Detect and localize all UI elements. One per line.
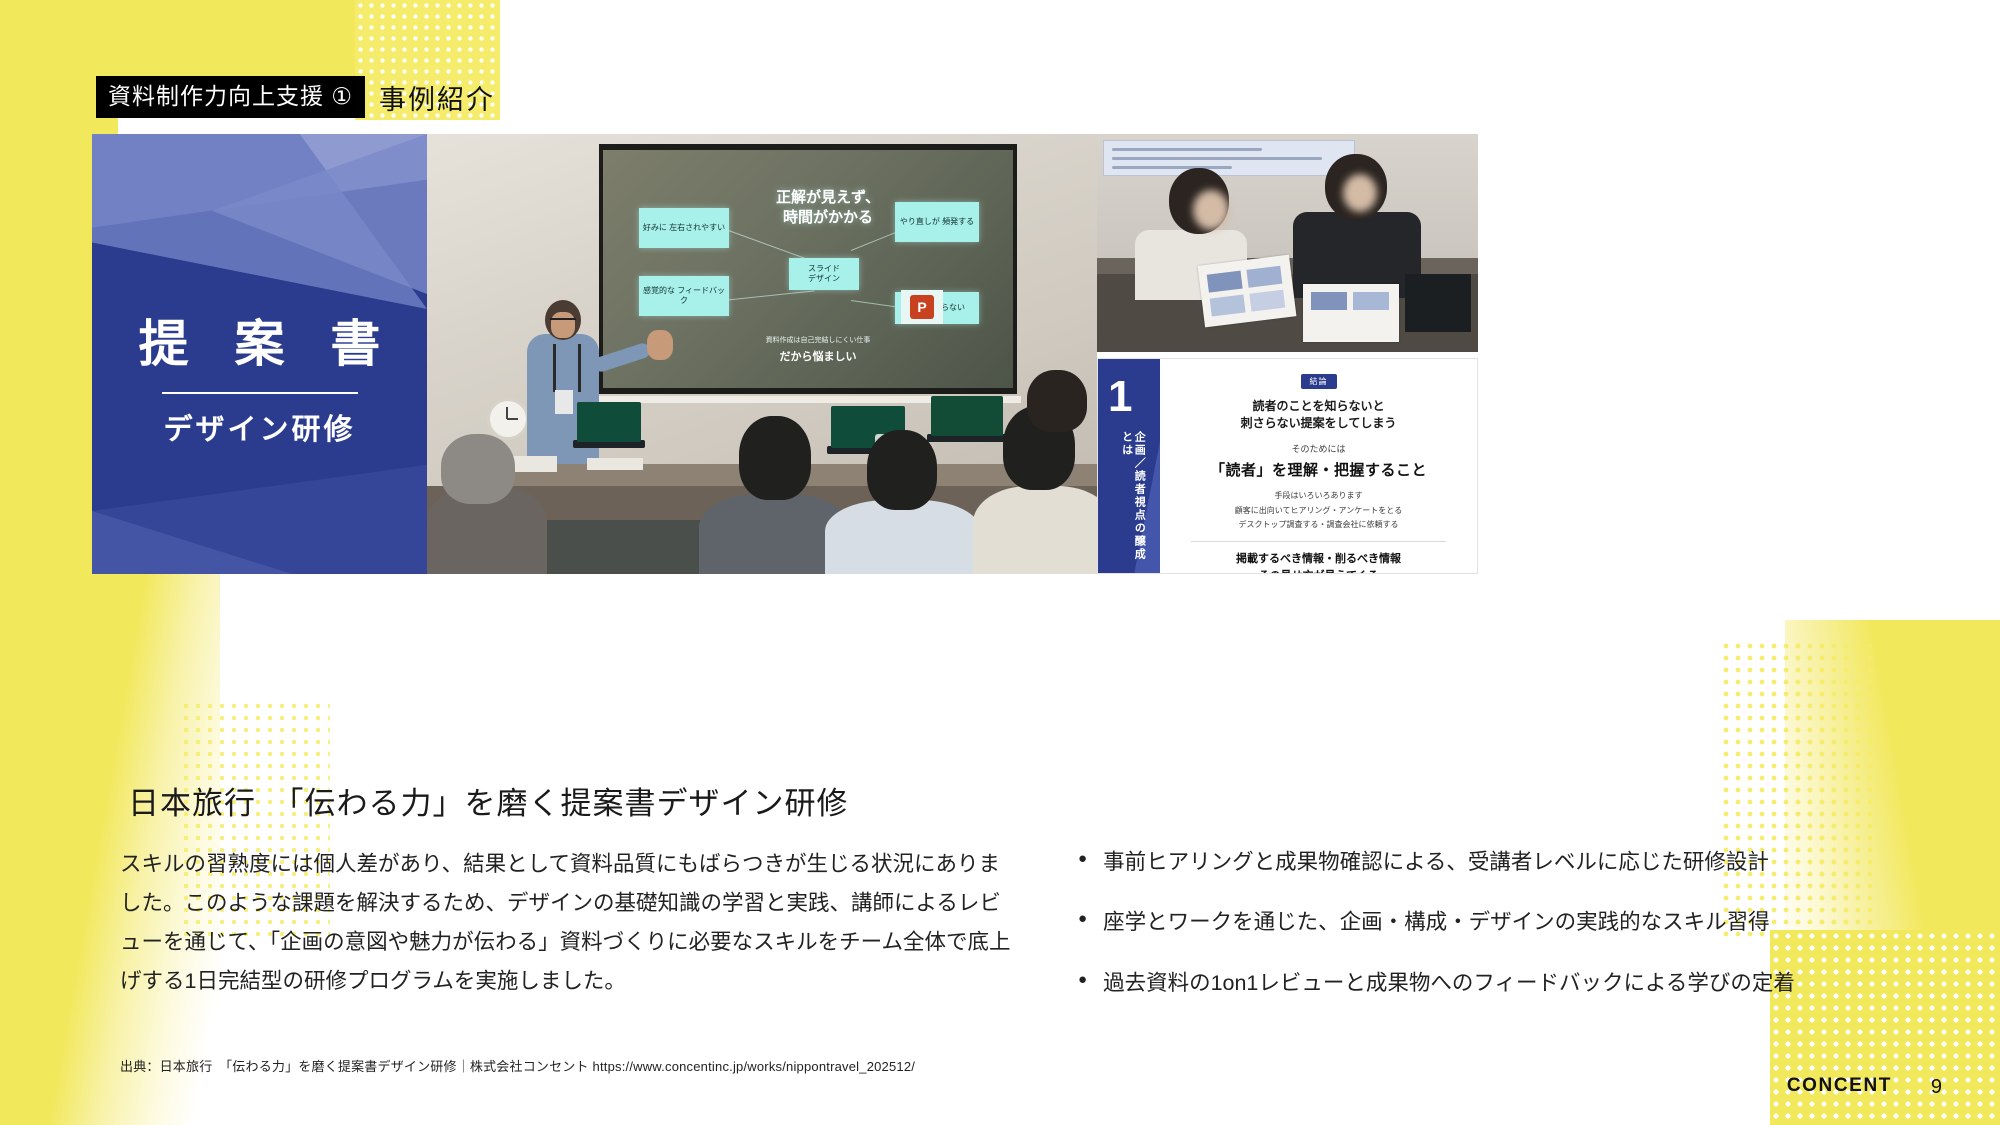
handout-papers [587, 458, 643, 470]
case-study-paragraph: スキルの習熟度には個人差があり、結果として資料品質にもばらつきが生じる状況にあり… [120, 845, 1020, 1002]
laptop-screen [931, 396, 1003, 436]
printed-handout [1303, 284, 1399, 342]
bullet-marker-icon: ● [1078, 966, 1087, 1000]
deck-closing-2: その見せ方が見えてくる [1170, 568, 1467, 574]
slide-page: 資料制作力向上支援 ① 事例紹介 提 案 書 デザイン研修 [0, 0, 2000, 1125]
source-citation: 出典：日本旅行 「伝わる力」を磨く提案書デザイン研修｜株式会社コンセント htt… [120, 1056, 915, 1075]
handout-thumb [1353, 292, 1389, 310]
powerpoint-icon: P [901, 290, 943, 324]
attendee-head [739, 416, 811, 500]
screen-text-line [1112, 148, 1262, 151]
slide-footnote-bold: だから悩ましい [713, 348, 923, 364]
slide-footnote-small: 資料作成は自己完結しにくい仕事 [713, 336, 923, 345]
deck-line-2-prefix: そのためには [1170, 442, 1467, 458]
screen-text-line [1112, 166, 1232, 169]
photo-workshop-session [1097, 134, 1478, 352]
media-gallery: 提 案 書 デザイン研修 好みに 左右されやすい 感覚的な フィードバック やり… [92, 134, 1478, 574]
deck-method-1: 顧客に出向いてヒアリング・アンケートをとる [1170, 504, 1467, 518]
cover-subtitle: デザイン研修 [92, 406, 427, 448]
slide-box-rework: やり直しが 頻発する [895, 202, 979, 242]
workshop-wall-screen [1103, 140, 1355, 176]
bullet-text: 事前ヒアリングと成果物確認による、受講者レベルに応じた研修設計 [1103, 845, 1769, 879]
slide-box-sensory-feedback: 感覚的な フィードバック [639, 276, 729, 316]
deck-method-2: デスクトップ調査する・調査会社に依頼する [1170, 518, 1467, 532]
presenter-face [551, 312, 575, 338]
deck-line-1: 読者のことを知らないと 刺さらない提案をしてしまう [1170, 398, 1467, 432]
deck-slide-thumbnail: 1 企画／読者視点の醸成とは 結論 読者のことを知らないと 刺さらない提案をして… [1097, 358, 1478, 574]
workshop-laptop [1405, 274, 1471, 332]
slide-hero-text: 正解が見えず、 時間がかかる [753, 188, 903, 229]
attendee-shoulders [973, 486, 1097, 574]
deck-closing-1: 掲載するべき情報・削るべき情報 [1170, 551, 1467, 568]
case-study-subhead: 日本旅行 「伝わる力」を磨く提案書デザイン研修 [128, 778, 849, 823]
company-logo: CONCENT [1787, 1075, 1892, 1097]
slide-connector-2 [723, 290, 815, 301]
deck-line-2: 「読者」を理解・把握すること [1170, 459, 1467, 480]
bullet-text: 座学とワークを通じた、企画・構成・デザインの実践的なスキル習得 [1103, 905, 1770, 939]
right-photo-column: 1 企画／読者視点の醸成とは 結論 読者のことを知らないと 刺さらない提案をして… [1097, 134, 1478, 574]
deck-divider [1191, 541, 1446, 542]
laptop-screen [577, 402, 641, 442]
presenter-lanyard [553, 344, 581, 392]
attendee-head [867, 430, 937, 510]
bullet-text: 過去資料の1on1レビューと成果物へのフィードバックによる学びの定着 [1103, 966, 1795, 1000]
presenter-glasses [550, 318, 576, 325]
screen-text-line [1112, 157, 1322, 160]
attendee-head [1027, 370, 1087, 432]
handout-thumb [1210, 294, 1246, 316]
photo-classroom-lecture: 好みに 左右されやすい 感覚的な フィードバック やり直しが 頻発する 一発で通… [427, 134, 1097, 574]
presenter-id-badge [555, 390, 573, 414]
attendee-shoulders [825, 500, 981, 574]
deck-section-label: 企画／読者視点の醸成とは [1120, 431, 1145, 573]
cover-text-block: 提 案 書 デザイン研修 [92, 304, 427, 448]
deck-methods-title: 手段はいろいろあります [1170, 489, 1467, 503]
list-item: ● 事前ヒアリングと成果物確認による、受講者レベルに応じた研修設計 [1078, 845, 1898, 879]
deck-conclusion-chip: 結論 [1301, 374, 1337, 389]
handout-thumb [1249, 290, 1285, 312]
bullet-marker-icon: ● [1078, 905, 1087, 939]
bullet-marker-icon: ● [1078, 845, 1087, 879]
deck-section-number: 1 [1108, 375, 1132, 419]
slide-connector-1 [723, 228, 810, 260]
list-item: ● 座学とワークを通じた、企画・構成・デザインの実践的なスキル習得 [1078, 905, 1898, 939]
attendee-head [441, 434, 515, 504]
deck-slide-body: 結論 読者のことを知らないと 刺さらない提案をしてしまう そのためには 「読者」… [1160, 359, 1477, 573]
slide-center-label: スライド デザイン [789, 258, 859, 290]
slide-box-preference: 好みに 左右されやすい [639, 208, 729, 248]
handout-thumb [1246, 266, 1282, 288]
slide-header: 資料制作力向上支援 ① 事例紹介 [96, 76, 495, 118]
handout-thumb [1207, 271, 1243, 293]
wall-clock-icon [487, 398, 529, 440]
participant-face-blurred [1343, 174, 1377, 212]
printed-handout [1198, 255, 1297, 328]
handout-thumb [1311, 292, 1347, 310]
cover-title: 提 案 書 [92, 304, 427, 376]
presenter-hand [647, 330, 673, 360]
header-section-badge: 資料制作力向上支援 ① [96, 76, 365, 118]
cover-divider [162, 392, 358, 394]
proposal-cover-card: 提 案 書 デザイン研修 [92, 134, 427, 574]
deck-section-marker: 1 企画／読者視点の醸成とは [1098, 359, 1160, 573]
case-study-bullet-list: ● 事前ヒアリングと成果物確認による、受講者レベルに応じた研修設計 ● 座学とワ… [1078, 845, 1898, 1026]
page-title: 事例紹介 [379, 78, 495, 117]
list-item: ● 過去資料の1on1レビューと成果物へのフィードバックによる学びの定着 [1078, 966, 1898, 1000]
page-number: 9 [1931, 1076, 1942, 1099]
participant-face-blurred [1193, 190, 1229, 230]
